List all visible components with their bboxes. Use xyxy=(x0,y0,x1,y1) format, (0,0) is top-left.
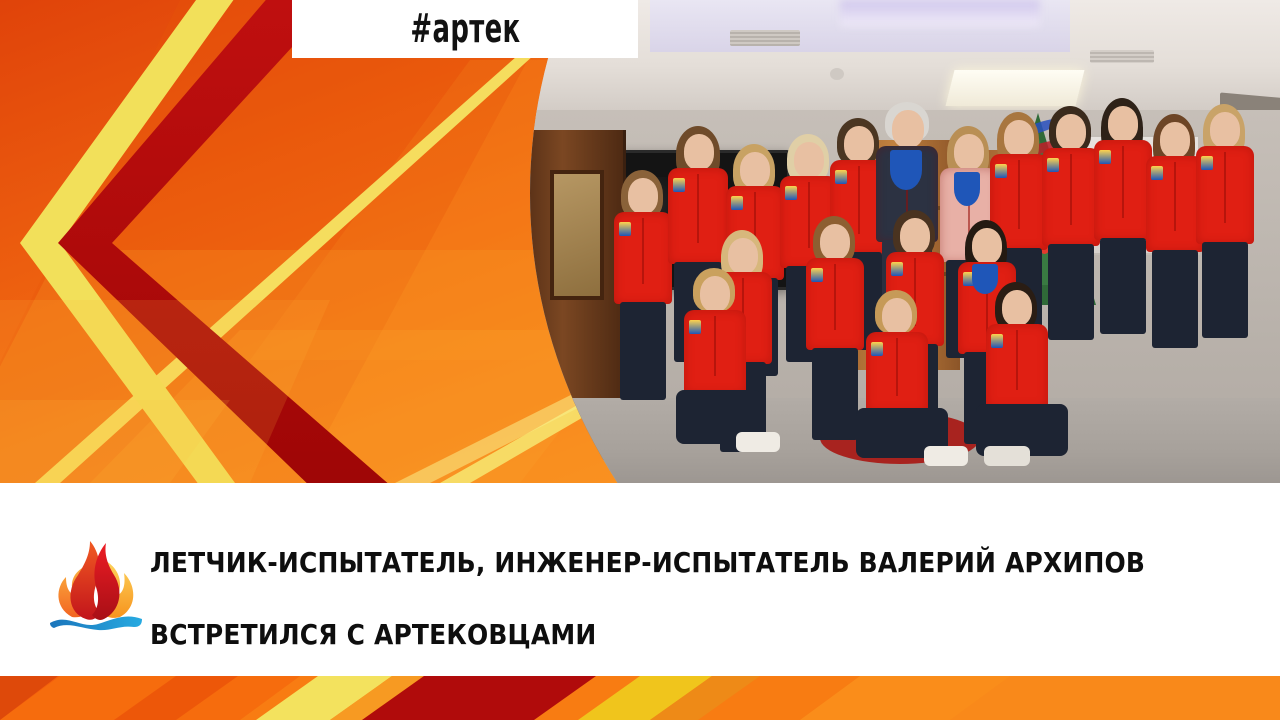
banner-background: #артек xyxy=(0,0,1280,483)
event-photo xyxy=(530,0,1280,483)
headline-band: ЛЕТЧИК-ИСПЫТАТЕЛЬ, ИНЖЕНЕР-ИСПЫТАТЕЛЬ ВА… xyxy=(0,483,1280,676)
headline-line-1: ЛЕТЧИК-ИСПЫТАТЕЛЬ, ИНЖЕНЕР-ИСПЫТАТЕЛЬ ВА… xyxy=(150,527,1249,599)
hashtag-text: #артек xyxy=(410,6,520,52)
footer-strip xyxy=(0,676,1280,720)
headline: ЛЕТЧИК-ИСПЫТАТЕЛЬ, ИНЖЕНЕР-ИСПЫТАТЕЛЬ ВА… xyxy=(150,527,1260,671)
photo-scene xyxy=(530,0,1280,483)
artek-flame-logo xyxy=(46,529,146,633)
headline-line-2: ВСТРЕТИЛСЯ С АРТЕКОВЦАМИ xyxy=(150,599,1249,671)
group-of-people xyxy=(530,0,1280,483)
poster-root: #артек xyxy=(0,0,1280,720)
hashtag-badge: #артек xyxy=(292,0,638,58)
